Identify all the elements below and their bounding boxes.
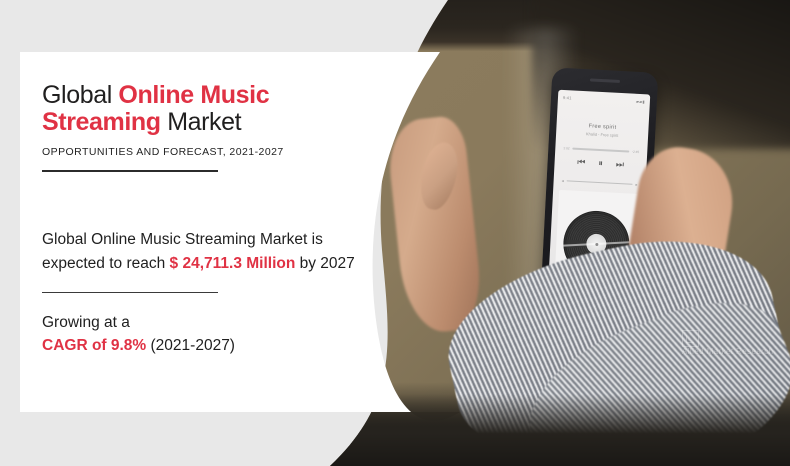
body-divider (42, 292, 218, 293)
market-value-amount: $ 24,711.3 Million (170, 255, 296, 272)
market-value-prefix: expected to reach (42, 255, 170, 272)
next-track-icon[interactable]: ⏭ (616, 159, 625, 170)
now-playing-info: Free spirit Khalid - Free spirit (556, 122, 649, 140)
remaining-time: -2:45 (632, 150, 639, 154)
status-signal-battery-icon: ▰▰▮ (636, 99, 645, 104)
phone-earpiece-speaker (590, 78, 620, 83)
volume-low-icon: ◂ (562, 178, 564, 183)
market-value-suffix: by 2027 (295, 255, 354, 272)
seek-bar-row[interactable]: 1:02 -2:45 (563, 146, 639, 154)
play-pause-icon[interactable]: ⏸ (598, 158, 603, 169)
page-title: Global Online MusicStreaming Market (42, 82, 382, 135)
elapsed-time: 1:02 (563, 146, 569, 150)
title-highlight-line1: Online Music (118, 81, 269, 109)
market-value-statement: Global Online Music Streaming Market ise… (42, 228, 382, 276)
card-content: Global Online MusicStreaming Market OPPO… (42, 82, 382, 358)
cagr-statement: Growing at aCAGR of 9.8% (2021-2027) (42, 311, 382, 358)
previous-track-icon[interactable]: ⏮ (577, 157, 586, 168)
title-divider (42, 170, 218, 172)
subtitle: OPPORTUNITIES AND FORECAST, 2021-2027 (42, 146, 382, 158)
title-trail: Market (161, 108, 242, 136)
cagr-value: CAGR of 9.8% (42, 337, 146, 354)
status-time: 9:41 (563, 95, 572, 100)
growth-line1: Growing at a (42, 314, 130, 331)
cagr-period: (2021-2027) (146, 337, 235, 354)
title-highlight-line2: Streaming (42, 108, 161, 136)
seek-slider[interactable] (573, 148, 630, 152)
phone-status-bar: 9:41 ▰▰▮ (563, 94, 645, 105)
infographic-canvas: 9:41 ▰▰▮ Free spirit Khalid - Free spiri… (0, 0, 790, 466)
title-lead: Global (42, 81, 118, 109)
market-value-line1: Global Online Music Streaming Market is (42, 231, 323, 248)
